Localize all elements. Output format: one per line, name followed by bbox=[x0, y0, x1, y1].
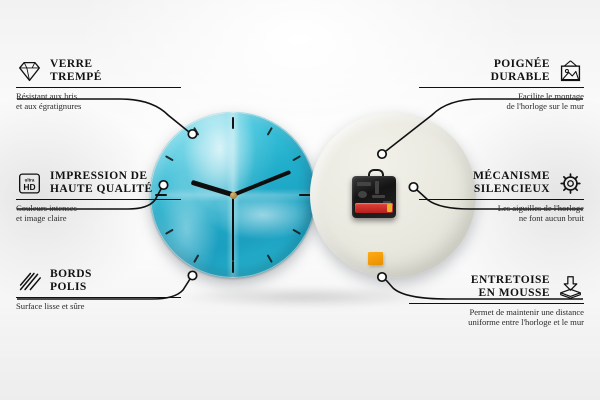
feature-title-line2: SILENCIEUX bbox=[473, 183, 550, 196]
feature-title-line2: DURABLE bbox=[491, 71, 550, 84]
divider bbox=[16, 199, 181, 200]
feature-desc-line2: ne font aucun bruit bbox=[419, 213, 584, 223]
ultra-hd-icon: ultra HD bbox=[16, 171, 43, 196]
feature-title-line2: HAUTE QUALITÉ bbox=[50, 183, 153, 196]
feature-title-line1: BORDS bbox=[50, 268, 92, 281]
feature-entretoise-en-mousse: ENTRETOISE EN MOUSSE Permet de maintenir… bbox=[409, 274, 584, 327]
feature-title-line2: TREMPÉ bbox=[50, 71, 102, 84]
feature-description: Résistant aux bris et aux égratignures bbox=[16, 91, 181, 111]
svg-text:HD: HD bbox=[23, 181, 35, 191]
feature-description: Permet de maintenir une distance uniform… bbox=[409, 307, 584, 327]
feature-desc-line2: et aux égratignures bbox=[16, 101, 181, 111]
foam-spacer-icon bbox=[557, 275, 584, 300]
feature-desc-line2: uniforme entre l'horloge et le mur bbox=[409, 317, 584, 327]
feature-bords-polis: BORDS POLIS Surface lisse et sûre bbox=[16, 268, 181, 311]
gear-icon bbox=[557, 171, 584, 196]
feature-title: ENTRETOISE EN MOUSSE bbox=[471, 274, 550, 300]
feature-header: MÉCANISME SILENCIEUX bbox=[419, 170, 584, 196]
feature-description: Surface lisse et sûre bbox=[16, 301, 181, 311]
feature-title-line1: ENTRETOISE bbox=[471, 274, 550, 287]
feature-description: Les aiguilles de l'horloge ne font aucun… bbox=[419, 203, 584, 223]
divider bbox=[16, 87, 181, 88]
feature-title-line2: POLIS bbox=[50, 281, 92, 294]
feature-header: POIGNÉE DURABLE bbox=[419, 58, 584, 84]
feature-title: MÉCANISME SILENCIEUX bbox=[473, 170, 550, 196]
feature-description: Facilite le montage de l'horloge sur le … bbox=[419, 91, 584, 111]
picture-hanger-icon bbox=[557, 59, 584, 84]
feature-description: Couleurs intenses et image claire bbox=[16, 203, 181, 223]
second-hand bbox=[232, 195, 234, 261]
feature-desc-line1: Couleurs intenses bbox=[16, 203, 181, 213]
hour-marker bbox=[233, 194, 316, 196]
feature-header: ultra HD IMPRESSION DE HAUTE QUALITÉ bbox=[16, 170, 181, 196]
feature-title-line2: EN MOUSSE bbox=[471, 287, 550, 300]
feature-title: IMPRESSION DE HAUTE QUALITÉ bbox=[50, 170, 153, 196]
feature-desc-line2: de l'horloge sur le mur bbox=[419, 101, 584, 111]
feature-title: BORDS POLIS bbox=[50, 268, 92, 294]
feature-mecanisme-silencieux: MÉCANISME SILENCIEUX Les aiguilles de l'… bbox=[419, 170, 584, 223]
feature-verre-trempe: VERRE TREMPÉ Résistant aux bris et aux é… bbox=[16, 58, 181, 111]
feature-desc-line1: Surface lisse et sûre bbox=[16, 301, 181, 311]
hour-marker bbox=[232, 112, 234, 195]
feature-desc-line1: Résistant aux bris bbox=[16, 91, 181, 101]
feature-desc-line2: et image claire bbox=[16, 213, 181, 223]
feature-header: ENTRETOISE EN MOUSSE bbox=[409, 274, 584, 300]
feature-title-line1: IMPRESSION DE bbox=[50, 170, 153, 183]
polished-edges-icon bbox=[16, 269, 43, 294]
feature-header: BORDS POLIS bbox=[16, 268, 181, 294]
divider bbox=[419, 87, 584, 88]
divider bbox=[419, 199, 584, 200]
hands-center-cap bbox=[230, 192, 237, 199]
foam-spacer bbox=[368, 252, 383, 265]
diamond-icon bbox=[16, 59, 43, 84]
feature-title: VERRE TREMPÉ bbox=[50, 58, 102, 84]
feature-title-line1: MÉCANISME bbox=[473, 170, 550, 183]
feature-poignee-durable: POIGNÉE DURABLE Facilite le montage de l… bbox=[419, 58, 584, 111]
battery bbox=[355, 203, 393, 213]
feature-header: VERRE TREMPÉ bbox=[16, 58, 181, 84]
feature-desc-line1: Les aiguilles de l'horloge bbox=[419, 203, 584, 213]
infographic-canvas: VERRE TREMPÉ Résistant aux bris et aux é… bbox=[0, 0, 600, 400]
feature-title-line1: POIGNÉE bbox=[491, 58, 550, 71]
divider bbox=[409, 303, 584, 304]
feature-title: POIGNÉE DURABLE bbox=[491, 58, 550, 84]
feature-desc-line1: Permet de maintenir une distance bbox=[409, 307, 584, 317]
feature-desc-line1: Facilite le montage bbox=[419, 91, 584, 101]
divider bbox=[16, 297, 181, 298]
feature-impression-haute-qualite: ultra HD IMPRESSION DE HAUTE QUALITÉ Cou… bbox=[16, 170, 181, 223]
feature-title-line1: VERRE bbox=[50, 58, 102, 71]
